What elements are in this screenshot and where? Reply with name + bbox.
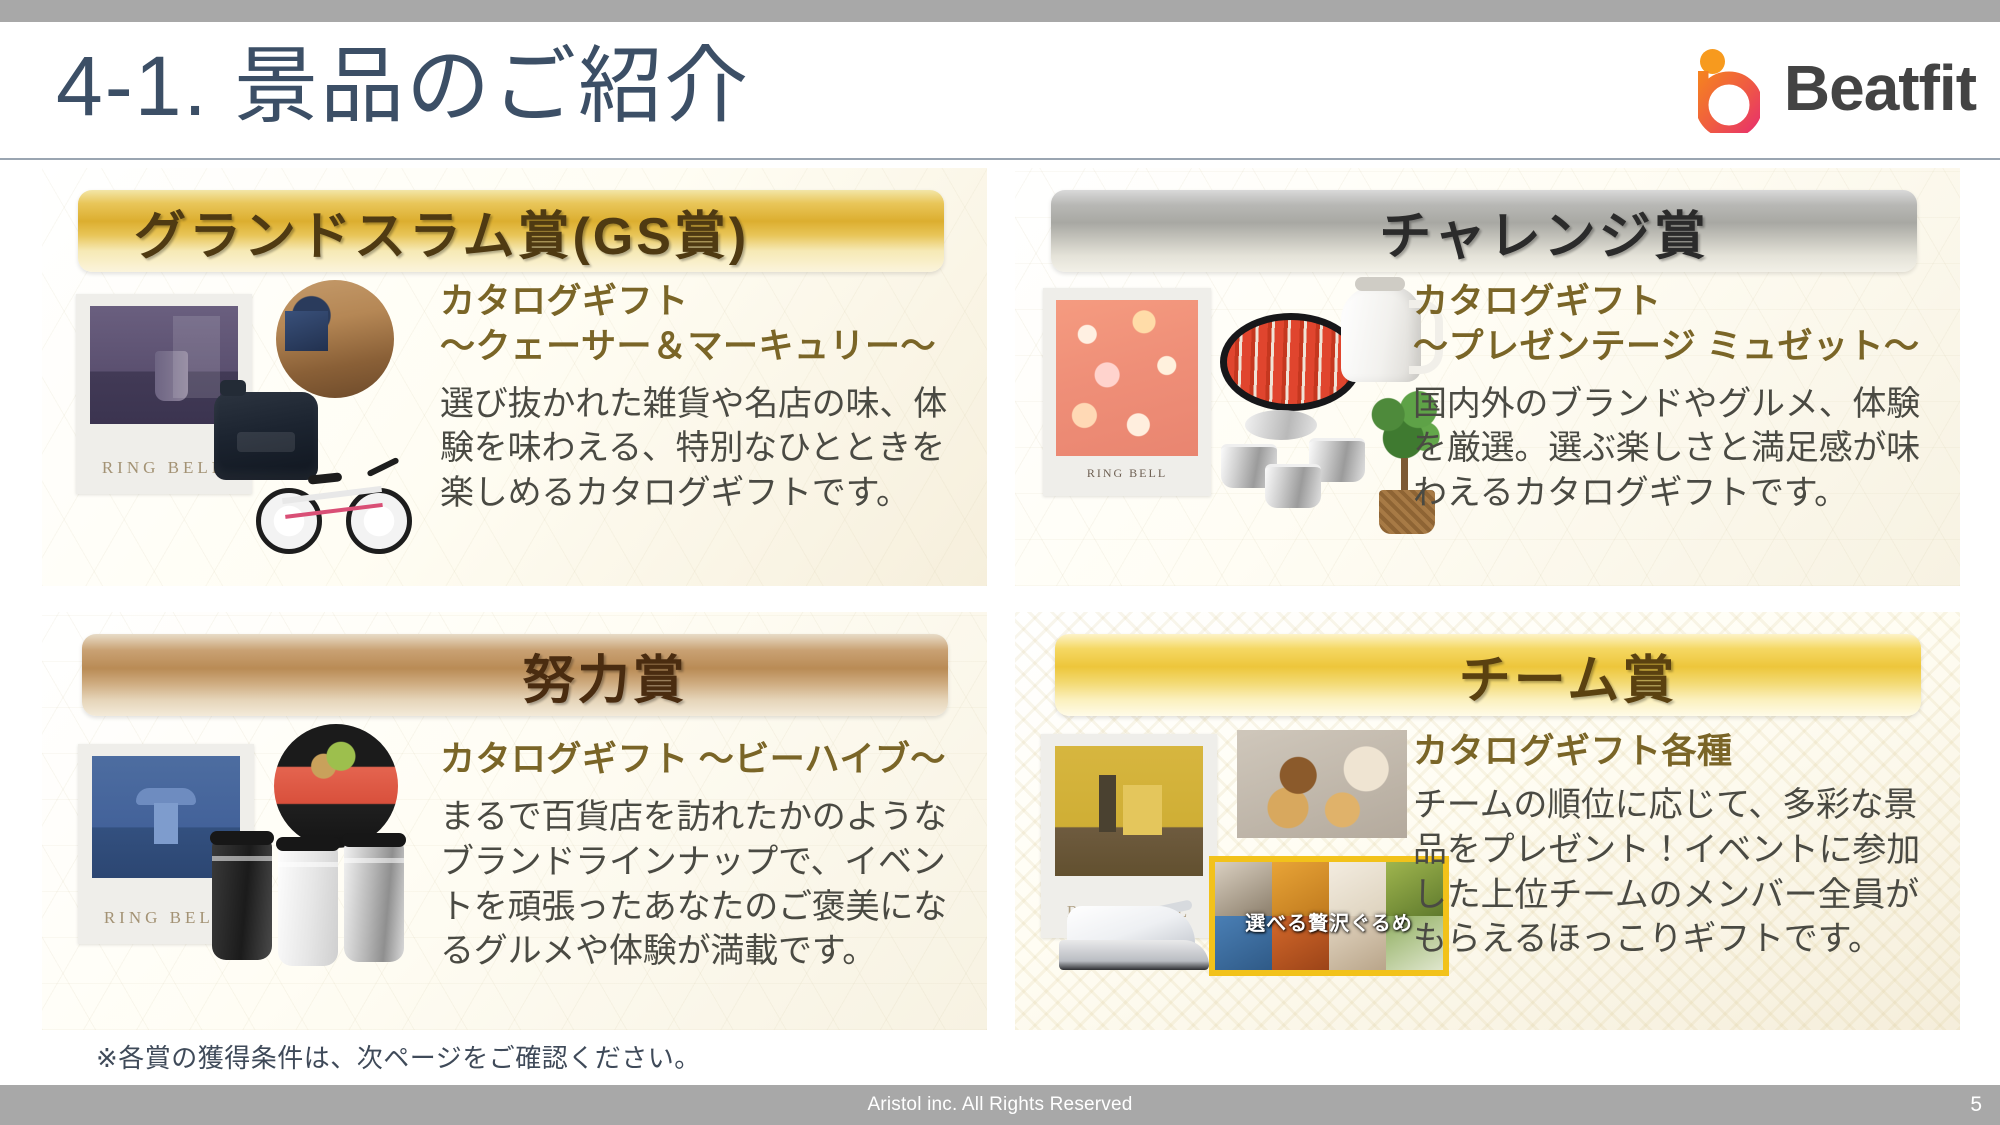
tumbler-silver-image bbox=[344, 842, 404, 962]
copyright-text: Aristol inc. All Rights Reserved bbox=[0, 1094, 2000, 1116]
award-banner-team: チーム賞 bbox=[1055, 634, 1921, 716]
award-banner-challenge: チャレンジ賞 bbox=[1051, 190, 1917, 272]
prize-copy-challenge: カタログギフト ～プレゼンテージ ミュゼット～ 国内外のブランドやグルメ、体験 … bbox=[1413, 280, 1943, 516]
beatfit-logo: Beatfit bbox=[1696, 42, 1976, 134]
catalog-presentage-floral-image: RING BELL bbox=[1043, 288, 1211, 496]
prize-copy-team: カタログギフト各種 チームの順位に応じて、多彩な景 品をプレゼント！イベントに参… bbox=[1413, 730, 1943, 962]
catalog-brand-label: RING BELL bbox=[102, 458, 226, 478]
prize-lead-text: カタログギフト各種 bbox=[1413, 730, 1943, 775]
award-banner-label: 努力賞 bbox=[522, 638, 687, 713]
header-divider bbox=[0, 158, 2000, 160]
slide-root: 4-1. 景品のご紹介 Beatfit bbox=[0, 0, 2000, 1125]
product-photos-doryoku: RING BELL bbox=[68, 724, 430, 1014]
catalog-brand-label: RING BELL bbox=[104, 908, 228, 928]
electric-kettle-image bbox=[1341, 286, 1421, 382]
top-rail bbox=[0, 0, 2000, 22]
tumbler-white-image bbox=[278, 846, 338, 966]
stainless-pot-set-image bbox=[1221, 410, 1367, 506]
prize-card-challenge[interactable]: チャレンジ賞 RING BELL bbox=[1015, 168, 1960, 586]
award-banner-label: チャレンジ賞 bbox=[1379, 194, 1708, 269]
product-photos-challenge: RING BELL bbox=[1041, 280, 1403, 570]
prize-lead-text: カタログギフト ～ビーハイブ～ bbox=[440, 738, 970, 783]
prize-card-team[interactable]: チーム賞 RING BELL bbox=[1015, 612, 1960, 1030]
page-number: 5 bbox=[1970, 1093, 1982, 1117]
prize-description-text: チームの順位に応じて、多彩な景 品をプレゼント！イベントに参加 した上位チームの… bbox=[1413, 783, 1943, 963]
tumbler-black-image bbox=[212, 840, 272, 960]
prize-lead-text: カタログギフト ～プレゼンテージ ミュゼット～ bbox=[1413, 280, 1943, 370]
prize-description-text: 国内外のブランドやグルメ、体験 を厳選。選ぶ楽しさと満足感が味 わえるカタログギ… bbox=[1413, 382, 1943, 517]
prize-card-grand-slam[interactable]: グランドスラム賞(GS賞) RING BELL bbox=[42, 168, 987, 586]
folding-bicycle-image bbox=[254, 450, 420, 560]
prize-card-doryoku[interactable]: 努力賞 RING BELL カタログギフト ～ビーハイブ bbox=[42, 612, 987, 1030]
prize-copy-doryoku: カタログギフト ～ビーハイブ～ まるで百貨店を訪れたかのような ブランドラインナ… bbox=[440, 738, 970, 974]
prize-description-text: 選び抜かれた雑貨や名店の味、体 験を味わえる、特別なひとときを 楽しめるカタログ… bbox=[440, 382, 970, 517]
product-photos-team: RING BELL 選べる贅沢ぐるめ bbox=[1041, 724, 1403, 1014]
prize-card-grid: グランドスラム賞(GS賞) RING BELL bbox=[42, 168, 1960, 1030]
prize-description-text: まるで百貨店を訪れたかのような ブランドラインナップで、イベン トを頑張ったあな… bbox=[440, 795, 970, 975]
beatfit-b-mark-icon bbox=[1696, 42, 1770, 134]
award-banner-label: チーム賞 bbox=[1459, 638, 1677, 713]
award-banner-doryoku: 努力賞 bbox=[82, 634, 948, 716]
page-title: 4-1. 景品のご紹介 bbox=[56, 42, 750, 130]
catalog-brand-label: RING BELL bbox=[1087, 466, 1167, 481]
slide-header: 4-1. 景品のご紹介 Beatfit bbox=[0, 22, 2000, 160]
beef-bowl-photo bbox=[274, 724, 398, 848]
footer-bar: Aristol inc. All Rights Reserved 5 bbox=[0, 1085, 2000, 1125]
product-photos-grand-slam: RING BELL bbox=[68, 280, 430, 570]
logo-b-ring-icon bbox=[1698, 69, 1760, 133]
hotel-room-photo bbox=[276, 280, 394, 398]
wagyu-beef-platter-image bbox=[1227, 320, 1355, 404]
steam-iron-image bbox=[1059, 892, 1209, 972]
footnote-text: ※各賞の獲得条件は、次ページをご確認ください。 bbox=[96, 1038, 701, 1075]
logo-wordmark: Beatfit bbox=[1784, 56, 1976, 120]
baked-goods-photo bbox=[1237, 730, 1407, 838]
prize-copy-grand-slam: カタログギフト ～クェーサー＆マーキュリー～ 選び抜かれた雑貨や名店の味、体 験… bbox=[440, 280, 970, 516]
award-banner-grand-slam: グランドスラム賞(GS賞) bbox=[78, 190, 944, 272]
prize-lead-text: カタログギフト ～クェーサー＆マーキュリー～ bbox=[440, 280, 970, 370]
award-banner-label: グランドスラム賞(GS賞) bbox=[134, 194, 749, 269]
